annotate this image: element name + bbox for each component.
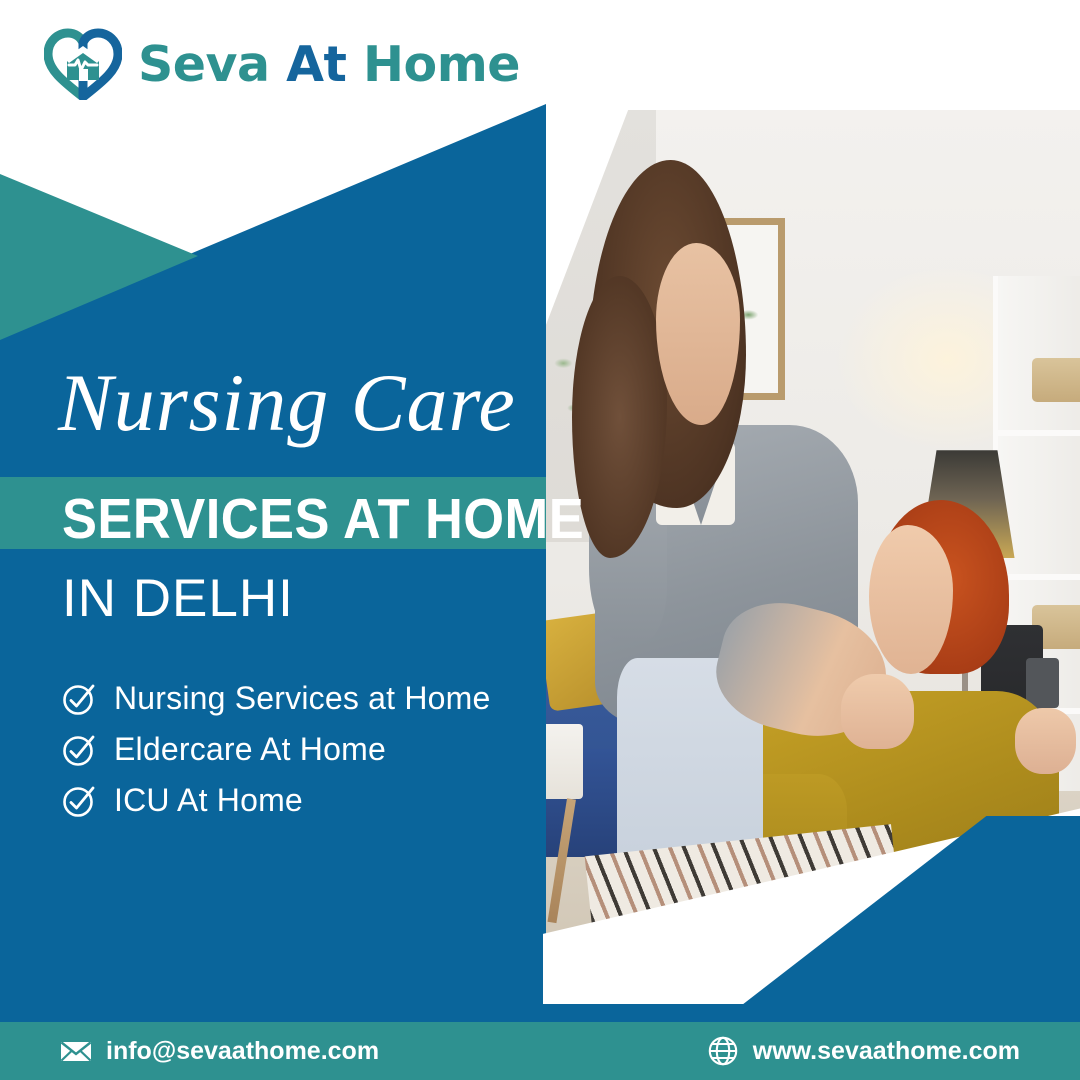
check-circle-icon [62, 733, 96, 767]
brand-name: Seva At Home [138, 36, 520, 93]
poster-canvas: Seva At Home Nursing Care SERVICES AT HO… [0, 0, 1080, 1080]
list-item: ICU At Home [62, 782, 491, 819]
brand-name-seva: Seva [138, 36, 270, 93]
services-list: Nursing Services at Home Eldercare At Ho… [62, 680, 491, 819]
check-circle-icon [62, 784, 96, 818]
website-text: www.sevaathome.com [753, 1037, 1020, 1066]
envelope-icon [60, 1035, 92, 1067]
service-label: Nursing Services at Home [114, 680, 491, 717]
service-label: ICU At Home [114, 782, 303, 819]
email-text: info@sevaathome.com [106, 1037, 379, 1066]
list-item: Eldercare At Home [62, 731, 491, 768]
brand-name-at: At [286, 36, 346, 93]
brand-name-home: Home [363, 36, 520, 93]
contact-website[interactable]: www.sevaathome.com [707, 1035, 1020, 1067]
globe-icon [707, 1035, 739, 1067]
heart-home-icon [44, 28, 122, 100]
nurse-hand-shoulder [1015, 708, 1077, 774]
shelf-line [998, 430, 1080, 436]
wheelchair-handle [1026, 658, 1060, 708]
service-label: Eldercare At Home [114, 731, 386, 768]
contact-email[interactable]: info@sevaathome.com [60, 1035, 379, 1067]
list-item: Nursing Services at Home [62, 680, 491, 717]
shelf-line [998, 574, 1080, 580]
footer-bar: info@sevaathome.com www.sevaathome.com [0, 1022, 1080, 1080]
headline-script: Nursing Care [58, 360, 538, 446]
headline-city: IN DELHI [62, 568, 294, 629]
headline-services: SERVICES AT HOME [62, 486, 584, 552]
brand-logo[interactable]: Seva At Home [44, 28, 520, 100]
shelf-basket [1032, 358, 1080, 402]
nurse-eldercare-photo [543, 110, 1080, 940]
side-table [543, 724, 583, 799]
footer-accent-strip [0, 1004, 1080, 1022]
check-circle-icon [62, 682, 96, 716]
nurse-hand [841, 674, 914, 749]
